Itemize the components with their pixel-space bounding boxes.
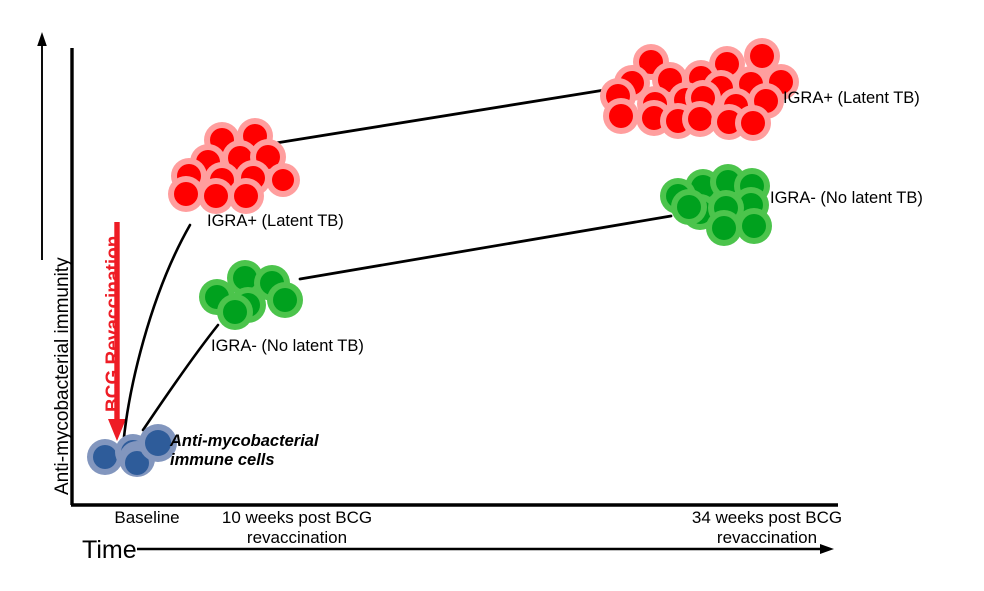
cluster-label-igra-pos-10w: IGRA+ (Latent TB)	[207, 212, 344, 231]
bcg-revaccination-label: BCG Revaccination	[103, 236, 125, 412]
cell-cluster-igra-pos-34w	[600, 38, 799, 141]
trajectory-curve-igra-neg	[143, 325, 218, 430]
figure-root: Anti-mycobacterial immunity BCG Revaccin…	[0, 0, 984, 591]
baseline-cells-note-line1: Anti-mycobacterial	[170, 432, 319, 450]
x-tick-label-baseline: Baseline	[104, 508, 190, 528]
cell-cluster-baseline	[87, 424, 177, 477]
x-axis-title: Time	[82, 536, 137, 566]
connector-line-igra-neg	[300, 216, 671, 279]
cluster-label-igra-neg-34w: IGRA- (No latent TB)	[770, 189, 923, 208]
cluster-label-igra-neg-10w: IGRA- (No latent TB)	[211, 337, 364, 356]
x-tick-label-10-weeks: 10 weeks post BCG revaccination	[198, 508, 396, 548]
y-axis-title: Anti-mycobacterial immunity	[52, 257, 74, 495]
cell-cluster-igra-neg-34w	[660, 164, 772, 246]
baseline-cells-note: Anti-mycobacterialimmune cells	[170, 432, 319, 471]
trajectory-curve-igra-pos	[123, 225, 190, 447]
y-axis-arrow-icon	[37, 32, 47, 260]
cell-cluster-igra-pos-10w	[168, 118, 300, 214]
cell-cluster-igra-neg-10w	[199, 260, 303, 330]
x-tick-label-34-weeks: 34 weeks post BCG revaccination	[668, 508, 866, 548]
cluster-label-igra-pos-34w: IGRA+ (Latent TB)	[783, 89, 920, 108]
baseline-cells-note-line2: immune cells	[170, 451, 275, 469]
connector-line-igra-pos	[276, 88, 617, 143]
